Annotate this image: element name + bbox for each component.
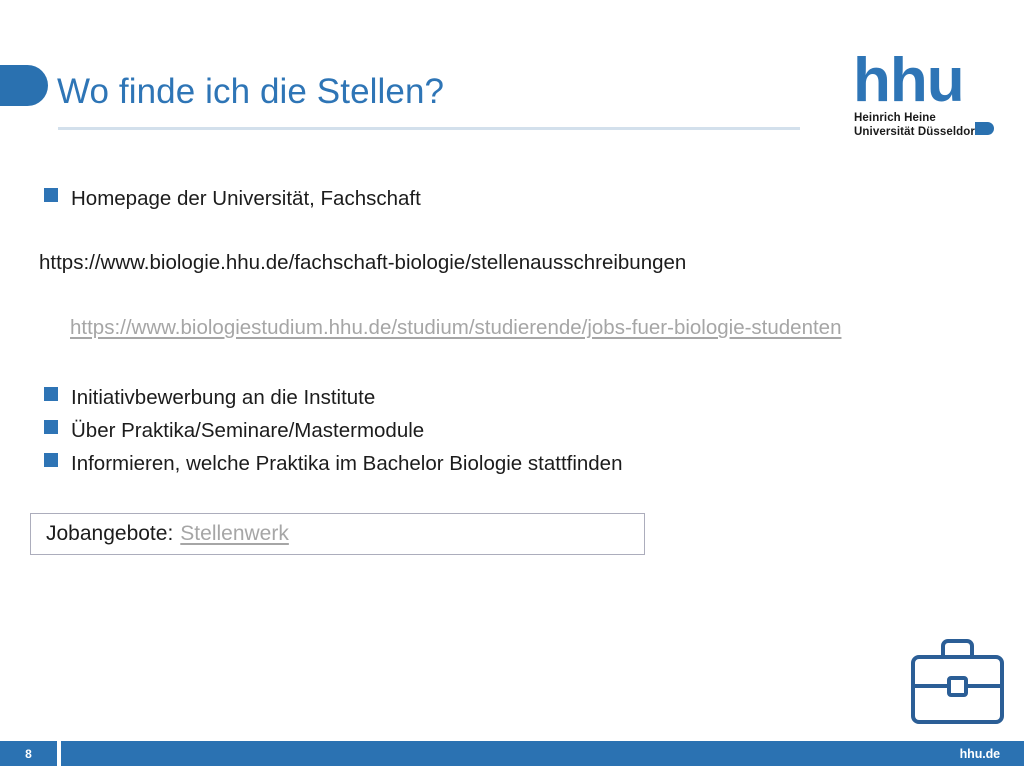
- square-bullet-icon: [44, 420, 58, 434]
- stellenwerk-link[interactable]: Stellenwerk: [180, 522, 289, 546]
- list-item: Initiativbewerbung an die Institute: [44, 385, 375, 411]
- hyperlink-url[interactable]: https://www.biologiestudium.hhu.de/studi…: [70, 315, 841, 341]
- title-divider: [58, 127, 800, 130]
- list-item: Informieren, welche Praktika im Bachelor…: [44, 451, 623, 477]
- hhu-logo: hhu Heinrich Heine Universität Düsseldor…: [845, 50, 1010, 142]
- list-item-label: Initiativbewerbung an die Institute: [71, 385, 375, 411]
- page-title: Wo finde ich die Stellen?: [57, 70, 444, 114]
- list-item-label: Informieren, welche Praktika im Bachelor…: [71, 451, 623, 477]
- jobangebote-label: Jobangebote:: [46, 522, 173, 546]
- footer-label: hhu.de: [960, 747, 1000, 761]
- title-marker-icon: [0, 65, 48, 106]
- plain-url-text: https://www.biologie.hhu.de/fachschaft-b…: [39, 250, 686, 276]
- footer-bar: hhu.de: [61, 741, 1024, 766]
- page-number: 8: [25, 747, 32, 761]
- list-item-label: Homepage der Universität, Fachschaft: [71, 186, 421, 212]
- logo-wordmark: hhu: [853, 50, 964, 112]
- square-bullet-icon: [44, 188, 58, 202]
- square-bullet-icon: [44, 387, 58, 401]
- list-item-label: Über Praktika/Seminare/Mastermodule: [71, 418, 424, 444]
- square-bullet-icon: [44, 453, 58, 467]
- slide: Wo finde ich die Stellen? hhu Heinrich H…: [0, 0, 1024, 770]
- page-number-badge: 8: [0, 741, 57, 766]
- list-item: Über Praktika/Seminare/Mastermodule: [44, 418, 424, 444]
- logo-subtitle-line1: Heinrich Heine: [854, 112, 936, 126]
- briefcase-icon: [905, 636, 1010, 728]
- list-item: Homepage der Universität, Fachschaft: [44, 186, 421, 212]
- jobangebote-box: Jobangebote: Stellenwerk: [30, 513, 645, 555]
- logo-subtitle-line2: Universität Düsseldorf: [854, 126, 979, 140]
- logo-marker-icon: [975, 122, 994, 135]
